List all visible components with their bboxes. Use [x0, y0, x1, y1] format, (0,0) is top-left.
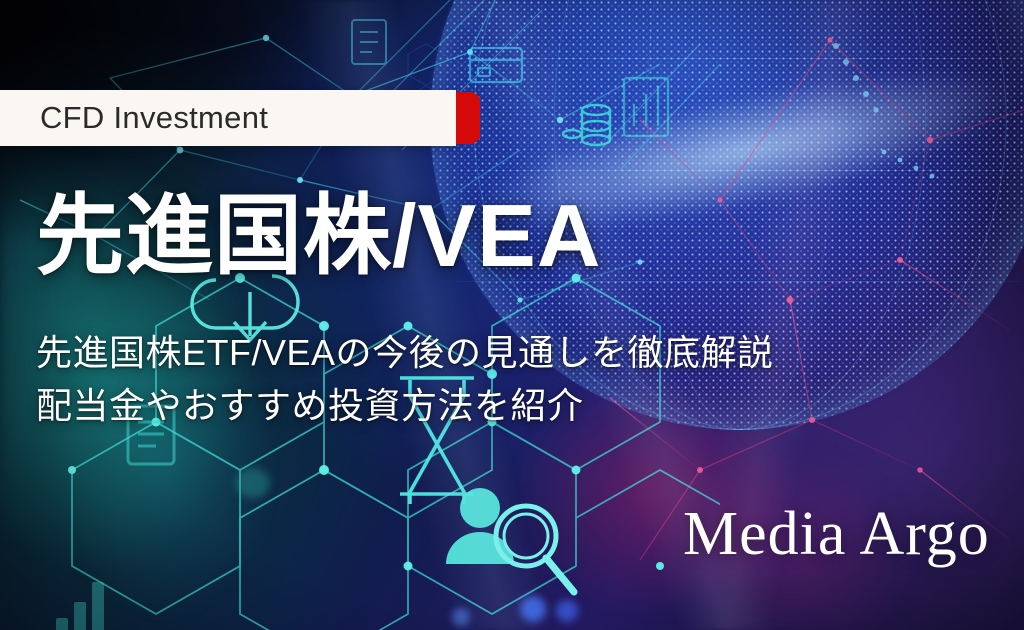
eyebrow-accent-tab [456, 92, 480, 144]
banner-image: CFD Investment 先進国株/VEA 先進国株ETF/VEAの今後の見… [0, 0, 1024, 630]
subtitle-line-1: 先進国株ETF/VEAの今後の見通しを徹底解説 [36, 326, 774, 379]
subtitle-line-2: 配当金やおすすめ投資方法を紹介 [36, 379, 774, 432]
page-title: 先進国株/VEA [36, 192, 601, 280]
eyebrow-label: CFD Investment [40, 100, 268, 136]
eyebrow-band: CFD Investment [0, 90, 456, 146]
brand-logo: Media Argo [683, 503, 990, 565]
subtitle: 先進国株ETF/VEAの今後の見通しを徹底解説 配当金やおすすめ投資方法を紹介 [36, 326, 774, 432]
